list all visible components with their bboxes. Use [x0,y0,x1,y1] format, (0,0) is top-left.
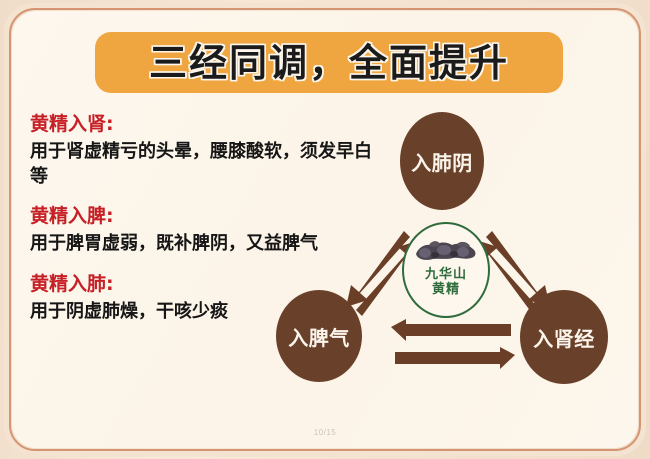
three-meridian-cycle-diagram: 入肺阴 入脾气 入肾经 [258,100,638,400]
brand-badge-line1: 九华山 [425,268,467,283]
title-banner: 三经同调，全面提升 [95,32,563,93]
node-lung-label: 入肺阴 [411,147,473,176]
arrow-kidney-to-spleen [391,319,511,341]
brand-badge: 九华山 黄精 [402,222,490,318]
page-title: 三经同调，全面提升 [149,44,509,82]
poster-root: 三经同调，全面提升 黄精入肾: 用于肾虚精亏的头晕，腰膝酸软，须发早白等 黄精入… [0,0,650,459]
arrow-lung-to-kidney [486,231,550,307]
node-lung[interactable]: 入肺阴 [400,112,484,210]
brand-badge-line2: 黄精 [432,283,460,298]
node-spleen-label: 入脾气 [288,322,350,351]
arrow-lung-to-spleen [346,231,410,307]
node-kidney[interactable]: 入肾经 [520,290,608,384]
node-spleen[interactable]: 入脾气 [276,290,362,382]
huangjing-root-icon [413,237,479,267]
page-indicator: 10/15 [0,428,650,437]
arrow-spleen-to-kidney [395,347,515,369]
node-kidney-label: 入肾经 [533,323,595,352]
